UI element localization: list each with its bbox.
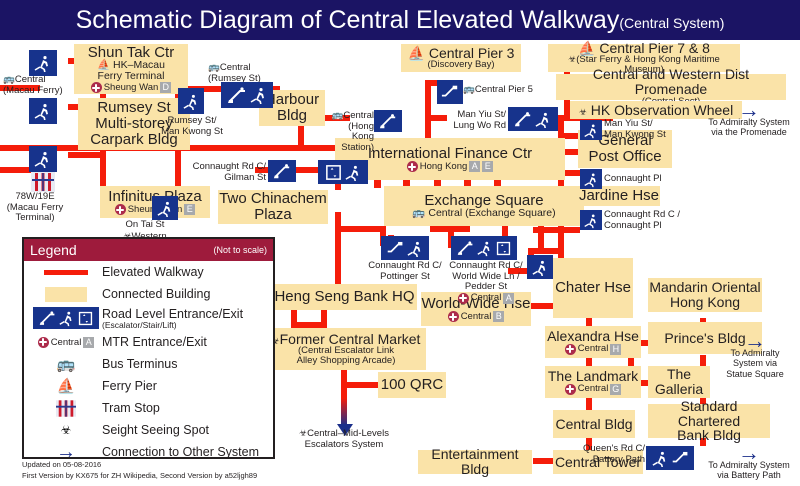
escalator-stair-entrance-icon[interactable] <box>221 82 273 108</box>
building-former-central-market[interactable]: ☣Former Central Market (Central Escalato… <box>266 328 426 370</box>
building-label: Entertainment Bldg <box>418 447 532 476</box>
building-exchange-square[interactable]: Exchange Square 🚌 Central (Exchange Squa… <box>384 186 584 226</box>
diagram-canvas: Schematic Diagram of Central Elevated Wa… <box>0 0 800 486</box>
building-label: ⛵ Central Pier 7 & 8 <box>578 41 710 56</box>
legend-scale-note: (Not to scale) <box>213 245 267 255</box>
label-tram-78w-19e: 78W/19E (Macau Ferry Terminal) <box>2 192 68 224</box>
mtr-logo-icon <box>407 161 418 172</box>
stair-icon <box>534 110 553 129</box>
legend-label: MTR Entrance/Exit <box>102 335 207 349</box>
connection-to-statue-square[interactable]: → To Admiralty System via Statue Square <box>714 334 796 379</box>
legend-title: Legend <box>30 242 77 258</box>
building-label-2: Galleria <box>655 382 703 397</box>
sightseeing-icon: ☣ <box>579 107 587 117</box>
sightseeing-icon: ☣ <box>299 428 307 438</box>
footer-credits: Updated on 05-08-2016 First Version by K… <box>22 460 257 482</box>
label-central-hk-station: 🚌Central (Hong Kong Station) <box>318 111 374 154</box>
stair-icon <box>651 449 670 468</box>
building-label: Jardine Hse <box>579 188 659 204</box>
building-label: Standard Chartered <box>648 399 770 428</box>
mtr-logo-icon <box>565 344 576 355</box>
bus-terminus-icon: 🚌 <box>30 355 102 373</box>
mtr-entrance-badge[interactable]: Hong KongAE <box>407 161 494 172</box>
legend-row-road-level-entrance: Road Level Entrance/Exit(Escalator/Stair… <box>24 305 273 331</box>
road-level-entrance-icon[interactable] <box>152 196 178 220</box>
road-level-entrance-icon[interactable] <box>29 98 57 124</box>
building-label: The <box>667 367 691 382</box>
walkway-segment <box>335 212 341 284</box>
road-level-entrance-icon[interactable] <box>178 88 204 114</box>
label-connaught-pedder: Connaught Rd C/ World Wide Ln / Pedder S… <box>442 261 530 308</box>
escalator-icon <box>671 449 690 467</box>
mtr-entrance-badge[interactable]: CentralH <box>565 344 622 355</box>
mtr-logo-icon <box>448 311 459 322</box>
mtr-entrance-icon: CentralA <box>30 337 102 348</box>
building-label: ⛵ Central Pier 3 <box>408 46 515 61</box>
building-label: Alexandra Hse <box>547 329 639 344</box>
mtr-entrance-badge[interactable]: Sheung WanD <box>91 82 172 93</box>
road-level-entrance-icon[interactable] <box>580 120 602 140</box>
stair-icon <box>476 239 494 257</box>
legend-label: Connection to Other System <box>102 445 259 459</box>
connection-arrow-icon: → <box>714 334 796 348</box>
legend-note: (Escalator/Stair/Lift) <box>102 321 243 330</box>
escalator-stair-entrance-icon[interactable] <box>381 236 429 260</box>
ferry-pier-icon: ⛵ <box>408 45 425 61</box>
bus-terminus-icon: 🚌 <box>208 62 220 73</box>
building-sublabel2: Ferry Terminal <box>98 71 165 82</box>
building-label: ☣Former Central Market <box>272 332 421 347</box>
building-label: 100 QRC <box>381 377 444 393</box>
stair-icon <box>58 309 76 327</box>
page-title: Schematic Diagram of Central Elevated Wa… <box>0 0 800 43</box>
escalator-icon <box>513 110 533 128</box>
label-connaught-rd-pl: Connaught Rd C / Connaught Pl <box>604 210 688 231</box>
mtr-logo-icon <box>91 82 102 93</box>
stair-icon <box>344 163 363 182</box>
escalator-entrance-icon[interactable] <box>374 110 402 132</box>
lift-stair-entrance-icon[interactable] <box>318 160 368 184</box>
lift-icon <box>77 310 94 327</box>
building-label: Two Chinachem <box>219 191 327 207</box>
walkway-segment <box>321 310 327 328</box>
building-sublabel: (Discovery Bay) <box>427 60 494 70</box>
footer-updated: Updated on 05-08-2016 <box>22 460 257 471</box>
building-central-bldg[interactable]: Central Bldg <box>553 410 635 438</box>
stair-escalator-entrance-icon[interactable] <box>646 446 694 470</box>
legend-label: Connected Building <box>102 287 210 301</box>
road-level-entrance-icon[interactable] <box>580 210 602 230</box>
mtr-entrance-badge[interactable]: CentralG <box>565 384 622 395</box>
connection-to-promenade[interactable]: → To Admiralty System via the Promenade <box>700 103 798 138</box>
legend-label: Ferry Pier <box>102 379 157 393</box>
building-two-chinachem-plaza[interactable]: Two Chinachem Plaza <box>218 190 328 224</box>
connection-to-battery-path[interactable]: → To Admiralty System via Battery Path <box>700 446 798 481</box>
road-level-entrance-icon[interactable] <box>29 50 57 76</box>
road-level-entrance-icon <box>30 307 102 329</box>
escalator-stair-entrance-icon[interactable] <box>508 107 558 131</box>
walkway-segment <box>335 226 385 232</box>
building-label-2: Hong Kong <box>670 295 740 310</box>
building-heng-seng-bank-hq[interactable]: Heng Seng Bank HQ <box>272 284 417 310</box>
building-100-qrc[interactable]: 100 QRC <box>378 372 446 398</box>
road-level-entrance-icon[interactable] <box>580 169 602 189</box>
lift-icon <box>495 240 512 257</box>
building-label: Harbour <box>265 92 319 108</box>
building-entertainment-bldg[interactable]: Entertainment Bldg <box>418 450 532 474</box>
mtr-entrance-badge[interactable]: CentralA <box>458 293 515 304</box>
bus-terminus-label: 🚌 Central (Exchange Square) <box>412 208 555 219</box>
building-label-2: Bldg <box>277 108 307 124</box>
legend-panel: Legend (Not to scale) Elevated Walkway C… <box>22 237 275 459</box>
title-bar: Schematic Diagram of Central Elevated Wa… <box>0 0 800 40</box>
tram-stop-icon <box>30 400 102 417</box>
building-shun-tak-ctr[interactable]: Shun Tak Ctr ⛵ HK–Macau Ferry Terminal S… <box>74 44 188 94</box>
bus-terminus-icon: 🚌 <box>412 207 425 219</box>
building-label: Heng Seng Bank HQ <box>274 289 414 305</box>
ferry-pier-icon: ⛵ <box>30 377 102 395</box>
walkway-segment <box>430 226 470 232</box>
escalator-entrance-icon[interactable] <box>268 160 296 182</box>
road-level-entrance-icon[interactable] <box>29 146 57 172</box>
connected-building-swatch <box>30 287 102 302</box>
building-label: International Finance Ctr <box>368 146 532 162</box>
building-central-pier-3[interactable]: ⛵ Central Pier 3 (Discovery Bay) <box>401 44 521 72</box>
legend-row-tram-stop: Tram Stop <box>24 397 273 419</box>
legend-row-elevated-walkway: Elevated Walkway <box>24 261 273 283</box>
bus-terminus-icon: 🚌 <box>332 110 344 121</box>
building-label: Central and Western Dist Promenade <box>556 67 786 96</box>
ferry-pier-icon: ⛵ <box>578 40 595 56</box>
bus-terminus-icon: 🚌 <box>463 84 475 95</box>
sightseeing-icon: ☣ <box>30 423 102 437</box>
mtr-entrance-badge[interactable]: CentralB <box>448 311 505 322</box>
building-sublabel2: Alley Shopping Arcade) <box>297 356 396 366</box>
building-jardine-hse[interactable]: Jardine Hse <box>578 186 660 206</box>
label-connaught-pottinger: Connaught Rd C/ Pottinger St <box>358 261 452 282</box>
footer-authors: First Version by KX675 for ZH Wikipedia,… <box>22 471 257 482</box>
building-label: Mandarin Oriental <box>649 280 760 295</box>
building-label: Rumsey St <box>97 100 170 116</box>
building-chater-hse[interactable]: Chater Hse <box>553 258 633 318</box>
building-label: Exchange Square <box>424 193 543 209</box>
building-label-2: Bank Bldg <box>677 428 741 443</box>
connection-arrow-icon: → <box>700 446 798 460</box>
building-label-2: Plaza <box>254 207 292 223</box>
legend-mtr-exit: A <box>83 337 94 348</box>
building-the-galleria[interactable]: The Galleria <box>648 366 710 398</box>
stair-icon <box>406 239 425 258</box>
building-label: Shun Tak Ctr <box>88 45 174 61</box>
walkway-segment <box>586 398 592 410</box>
legend-label: Road Level Entrance/Exit(Escalator/Stair… <box>102 307 243 330</box>
label-rumsey-man-kwong: Rumsey St/ Man Kwong St <box>156 116 228 137</box>
label-central-pier-5: 🚌Central Pier 5 <box>463 85 549 96</box>
label-man-yiu-lung-wo: Man Yiu St/ Lung Wo Rd <box>430 110 506 131</box>
label-connaught-gilman: Connaught Rd C/ Gilman St <box>172 162 266 183</box>
legend-label: Elevated Walkway <box>102 265 204 279</box>
mtr-logo-icon <box>38 337 49 348</box>
escalator-icon <box>456 239 475 257</box>
legend-row-connected-building: Connected Building <box>24 283 273 305</box>
mtr-logo-icon <box>115 204 126 215</box>
label-central-mid-levels: ☣Central–Mid-Levels Escalators System <box>288 428 400 450</box>
bus-terminus-icon: 🚌 <box>3 74 15 85</box>
mtr-logo-icon <box>458 293 469 304</box>
lift-icon <box>324 163 343 182</box>
walkway-segment <box>68 152 106 158</box>
building-mandarin-oriental[interactable]: Mandarin Oriental Hong Kong <box>648 278 762 312</box>
tram-stop-icon <box>31 172 55 192</box>
legend-header: Legend (Not to scale) <box>24 239 273 261</box>
legend-row-sightseeing: ☣ Seight Seeing Spot <box>24 419 273 441</box>
building-the-landmark[interactable]: The Landmark CentralG <box>545 366 641 398</box>
legend-mtr-name: Central <box>51 337 82 348</box>
walkway-segment <box>533 458 555 464</box>
legend-row-ferry-pier: ⛵ Ferry Pier <box>24 375 273 397</box>
legend-label: Bus Terminus <box>102 357 178 371</box>
stair-icon <box>249 85 269 105</box>
walkway-segment <box>533 227 563 233</box>
escalator-icon <box>38 309 57 327</box>
connection-arrow-icon: → <box>700 103 798 117</box>
building-standard-chartered[interactable]: Standard Chartered Bank Bldg <box>648 404 770 438</box>
legend-row-mtr-entrance: CentralA MTR Entrance/Exit <box>24 331 273 353</box>
building-alexandra-hse[interactable]: Alexandra Hse CentralH <box>545 326 641 358</box>
elevated-walkway-swatch <box>30 270 102 275</box>
building-label: The Landmark <box>548 369 638 384</box>
road-level-entrance-icon[interactable] <box>527 255 553 279</box>
building-label-2: Post Office <box>588 149 661 165</box>
label-man-yiu-man-kwong: Man Yiu St/ Man Kwong St <box>604 119 678 140</box>
walkway-segment <box>341 382 381 388</box>
escalator-icon <box>386 239 405 257</box>
mtr-logo-icon <box>565 384 576 395</box>
building-label: Central Bldg <box>555 417 632 432</box>
label-connaught-pl: Connaught Pl <box>604 174 684 185</box>
legend-label: Seight Seeing Spot <box>102 423 209 437</box>
building-label: Chater Hse <box>555 280 631 296</box>
label-queens-rd-battery-path: Queen's Rd C/ Battery Path <box>575 444 645 465</box>
connection-arrow-icon: → <box>30 446 102 458</box>
legend-row-bus-terminus: 🚌 Bus Terminus <box>24 353 273 375</box>
escalator-stair-lift-entrance-icon[interactable] <box>451 236 517 260</box>
escalator-icon <box>226 85 248 105</box>
escalator-entrance-icon[interactable] <box>437 80 463 104</box>
legend-label: Tram Stop <box>102 401 160 415</box>
